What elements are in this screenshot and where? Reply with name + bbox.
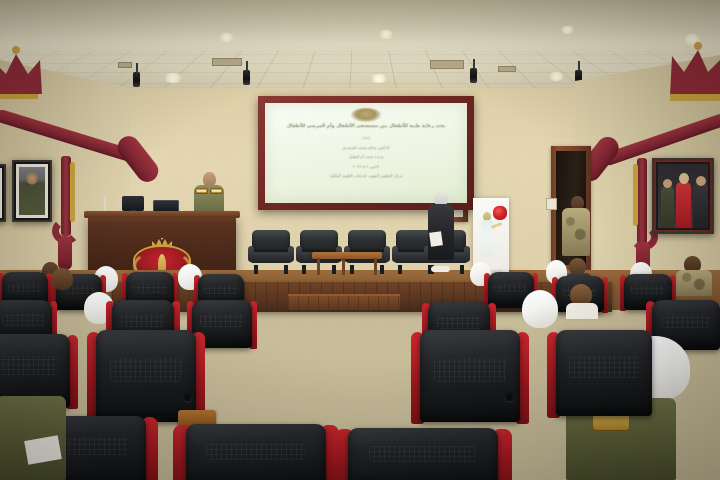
armchair-arm — [296, 246, 302, 262]
portrait-figure-head — [663, 179, 672, 188]
seat-cup-holder[interactable] — [504, 392, 515, 403]
banner-balloon-icon — [493, 206, 507, 220]
seat-back — [186, 424, 326, 480]
speaker-papers — [429, 231, 443, 247]
armchair-leg — [284, 265, 288, 274]
armchair-leg — [254, 265, 258, 274]
portrait-image — [658, 164, 708, 228]
ceiling-air-vent — [118, 62, 132, 68]
ceiling-air-vent — [212, 58, 242, 66]
audience-member-foreground-left — [0, 396, 66, 480]
audience-head — [51, 268, 73, 290]
portrait-figure — [676, 182, 691, 228]
slide-organization: مركز التطوير المهني لخدمات الطبية الملكي… — [265, 173, 467, 178]
seated-officer — [676, 256, 712, 296]
seat-back — [348, 428, 498, 480]
armchair-seat — [250, 252, 292, 263]
coffee-table-top — [312, 252, 382, 259]
portrait-figure — [661, 186, 674, 228]
audience-member — [520, 290, 560, 330]
speaker-shoes — [431, 266, 450, 272]
seat-cup-holder[interactable] — [182, 392, 193, 403]
projection-screen-surface: بحث رعاية طبية للأطفال بين مستشفى الأطفا… — [265, 103, 467, 203]
coffee-table-leg — [317, 258, 320, 275]
framed-portrait-partial-left — [0, 164, 6, 222]
track-spotlight — [133, 72, 140, 87]
slide-text-block: بحث رعاية طبية للأطفال بين مستشفى الأطفا… — [265, 124, 467, 178]
armchair-back — [300, 230, 338, 254]
banner-child-figure — [481, 212, 494, 262]
portrait-mat — [0, 168, 2, 218]
armchair-arm — [464, 246, 470, 262]
officer-body — [676, 270, 712, 296]
slide-body-line-1: الدكتور صالح محمد الصعيدي — [265, 145, 467, 150]
ceiling-downlight — [218, 33, 235, 42]
ceiling-downlight — [378, 30, 394, 39]
armchair-leg — [460, 265, 464, 274]
audience-member — [48, 268, 78, 298]
armchair-arm — [288, 246, 294, 262]
officer-body — [562, 208, 590, 256]
ceiling-downlight — [560, 26, 575, 34]
ceiling-downlight — [163, 73, 183, 83]
audience-hijab — [522, 290, 558, 328]
portrait-mat — [16, 164, 48, 218]
seat-back — [420, 330, 520, 422]
right-wall-crown-ornament — [650, 42, 720, 107]
framed-royal-family-photo — [652, 158, 714, 234]
portrait-figure-head — [696, 176, 706, 186]
stage-coffee-table — [312, 252, 382, 276]
seat-back — [96, 330, 196, 422]
slide-date: الاثنين ٩-٥-٢٠٢٢ — [265, 164, 467, 169]
audience-member — [566, 284, 598, 318]
microphone-head — [102, 193, 107, 197]
audience-seat[interactable] — [186, 424, 326, 480]
portrait-figure-head — [679, 173, 689, 184]
coffee-table-leg — [342, 258, 345, 275]
slide-logo-icon — [351, 108, 381, 122]
audience-body — [566, 303, 598, 319]
ceiling-air-vent — [498, 66, 516, 72]
desk-top-edge — [84, 211, 240, 218]
armchair-arm — [392, 246, 398, 262]
audience-seat[interactable] — [96, 330, 196, 422]
wall-notice-plate — [546, 198, 557, 210]
stage-step — [288, 294, 400, 310]
framed-officer-portrait — [12, 160, 52, 222]
armchair-back — [252, 230, 290, 254]
slide-subtitle: إعداد — [265, 135, 467, 140]
slide-title: بحث رعاية طبية للأطفال بين مستشفى الأطفا… — [265, 124, 467, 129]
armchair-arm — [248, 246, 254, 262]
portrait-mat — [656, 162, 710, 230]
ceiling-downlight — [370, 74, 388, 83]
presenter-epaulette — [195, 188, 208, 194]
slide-body-line-2: وحدة صحة أم الطفل — [265, 154, 467, 159]
audience-seat[interactable] — [420, 330, 520, 422]
portrait-figure — [693, 184, 708, 228]
armchair-back — [348, 230, 386, 254]
stage-armchair — [248, 230, 294, 274]
ceiling-air-vent — [430, 60, 464, 69]
audience-seat[interactable] — [556, 330, 652, 416]
ceiling-downlight — [548, 72, 565, 81]
left-wall-crown-ornament — [0, 44, 62, 104]
monitor-screen — [122, 196, 144, 211]
portrait-image — [19, 167, 45, 215]
track-spotlight — [243, 70, 250, 85]
coffee-table-leg — [374, 258, 377, 275]
track-spotlight — [470, 68, 477, 83]
armchair-leg — [302, 265, 306, 274]
auditorium-photo: بحث رعاية طبية للأطفال بين مستشفى الأطفا… — [0, 0, 720, 480]
armchair-arm — [384, 246, 390, 262]
armchair-leg — [398, 265, 402, 274]
presenter-epaulette — [210, 188, 223, 194]
right-wall-pillar — [633, 164, 638, 226]
speaker-beside-banner — [428, 192, 454, 272]
audience-seat[interactable] — [348, 428, 498, 480]
seat-back — [556, 330, 652, 416]
left-wall-pillar — [70, 162, 75, 222]
